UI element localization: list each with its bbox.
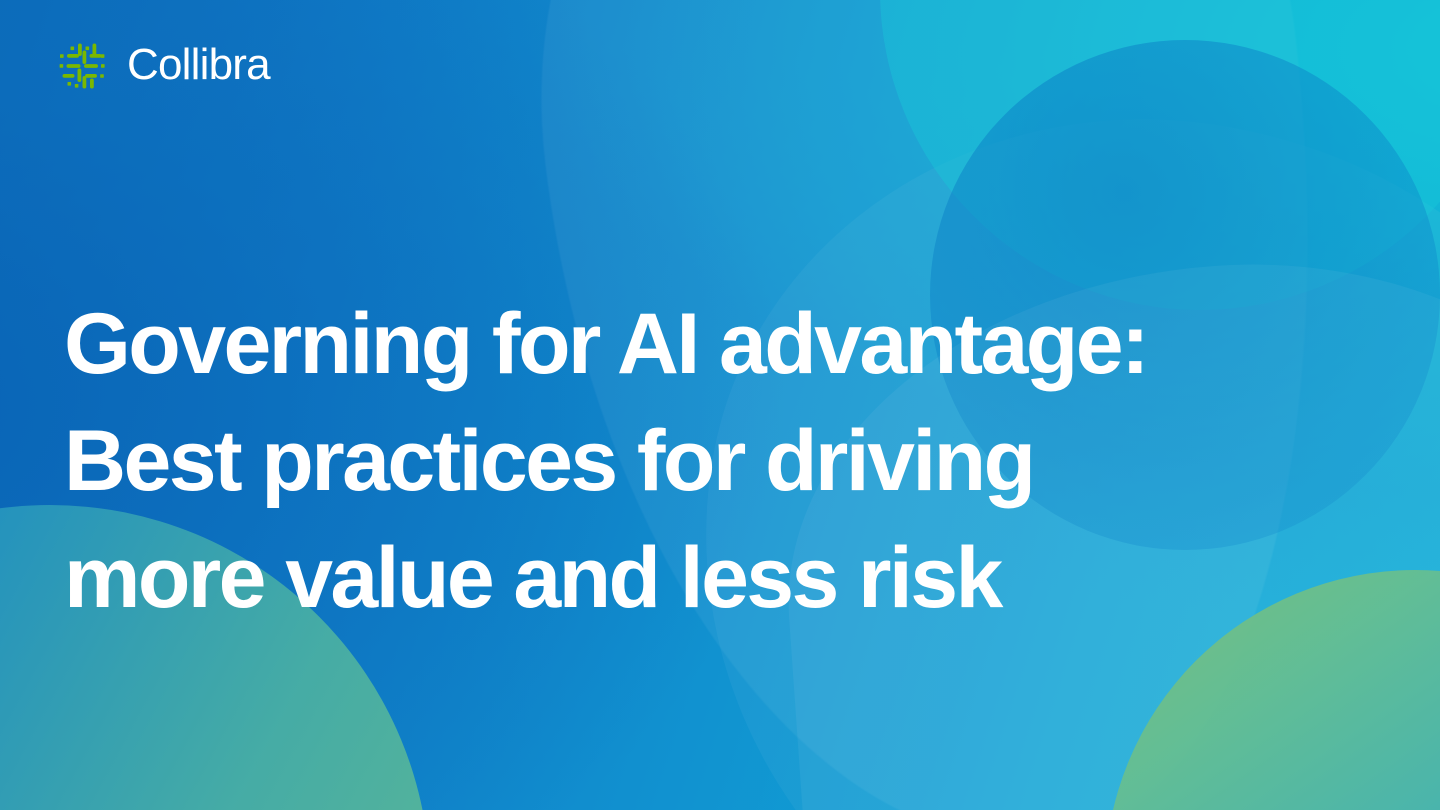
page-title: Governing for AI advantage: Best practic…: [64, 286, 1344, 637]
title-line-1: Governing for AI advantage:: [64, 286, 1344, 403]
title-line-3: more value and less risk: [64, 520, 1344, 637]
title-slide: Collibra Governing for AI advantage: Bes…: [0, 0, 1440, 810]
collibra-wordmark: Collibra: [127, 43, 270, 87]
collibra-logo[interactable]: Collibra: [56, 40, 270, 92]
title-line-2: Best practices for driving: [64, 403, 1344, 520]
collibra-grid-icon: [56, 40, 108, 92]
